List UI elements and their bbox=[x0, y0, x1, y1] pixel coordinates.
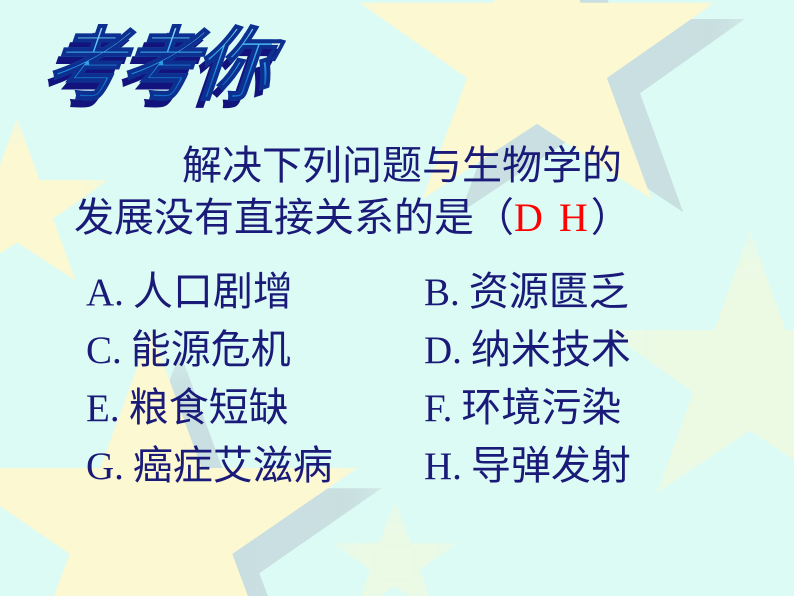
question-line-2: 发展没有直接关系的是（D H） bbox=[74, 192, 734, 244]
options-row-gh: G. 癌症艾滋病 H. 导弹发射 bbox=[86, 440, 726, 498]
option-h-letter: H. bbox=[424, 441, 462, 493]
answer-value: D H bbox=[514, 195, 591, 240]
slide-content: 考考你 考考你 解决下列问题与生物学的 发展没有直接关系的是（D H） A. 人… bbox=[0, 0, 794, 596]
option-b-letter: B. bbox=[424, 267, 460, 319]
option-b-text: 资源匮乏 bbox=[469, 266, 629, 318]
option-e[interactable]: E. 粮食短缺 bbox=[86, 382, 424, 435]
option-a-letter: A. bbox=[86, 267, 124, 319]
option-g-text: 癌症艾滋病 bbox=[133, 440, 333, 492]
option-c-letter: C. bbox=[86, 325, 122, 377]
option-f-text: 环境污染 bbox=[461, 382, 621, 434]
slide-title: 考考你 考考你 bbox=[52, 26, 352, 126]
option-g[interactable]: G. 癌症艾滋病 bbox=[86, 440, 424, 493]
options-list: A. 人口剧增 B. 资源匮乏 C. 能源危机 D. 纳米技术 bbox=[86, 266, 726, 498]
option-g-letter: G. bbox=[86, 441, 124, 493]
option-a-text: 人口剧增 bbox=[133, 266, 293, 318]
option-f[interactable]: F. 环境污染 bbox=[424, 382, 726, 435]
option-a[interactable]: A. 人口剧增 bbox=[86, 266, 424, 319]
options-row-cd: C. 能源危机 D. 纳米技术 bbox=[86, 324, 726, 382]
option-h-text: 导弹发射 bbox=[471, 440, 631, 492]
option-d-letter: D. bbox=[424, 325, 462, 377]
slide-canvas: 考考你 考考你 解决下列问题与生物学的 发展没有直接关系的是（D H） A. 人… bbox=[0, 0, 794, 596]
option-d-text: 纳米技术 bbox=[471, 324, 631, 376]
option-f-letter: F. bbox=[424, 383, 452, 435]
options-row-ef: E. 粮食短缺 F. 环境污染 bbox=[86, 382, 726, 440]
option-h[interactable]: H. 导弹发射 bbox=[424, 440, 726, 493]
option-b[interactable]: B. 资源匮乏 bbox=[424, 266, 726, 319]
option-d[interactable]: D. 纳米技术 bbox=[424, 324, 726, 377]
options-row-ab: A. 人口剧增 B. 资源匮乏 bbox=[86, 266, 726, 324]
title-text: 考考你 bbox=[44, 26, 274, 105]
option-e-letter: E. bbox=[86, 383, 120, 435]
question-block: 解决下列问题与生物学的 发展没有直接关系的是（D H） bbox=[74, 140, 734, 244]
question-line-2-suffix: ） bbox=[591, 195, 631, 240]
option-c-text: 能源危机 bbox=[131, 324, 291, 376]
question-line-1: 解决下列问题与生物学的 bbox=[74, 140, 734, 192]
question-line-2-prefix: 发展没有直接关系的是（ bbox=[74, 195, 514, 240]
option-e-text: 粮食短缺 bbox=[129, 382, 289, 434]
option-c[interactable]: C. 能源危机 bbox=[86, 324, 424, 377]
